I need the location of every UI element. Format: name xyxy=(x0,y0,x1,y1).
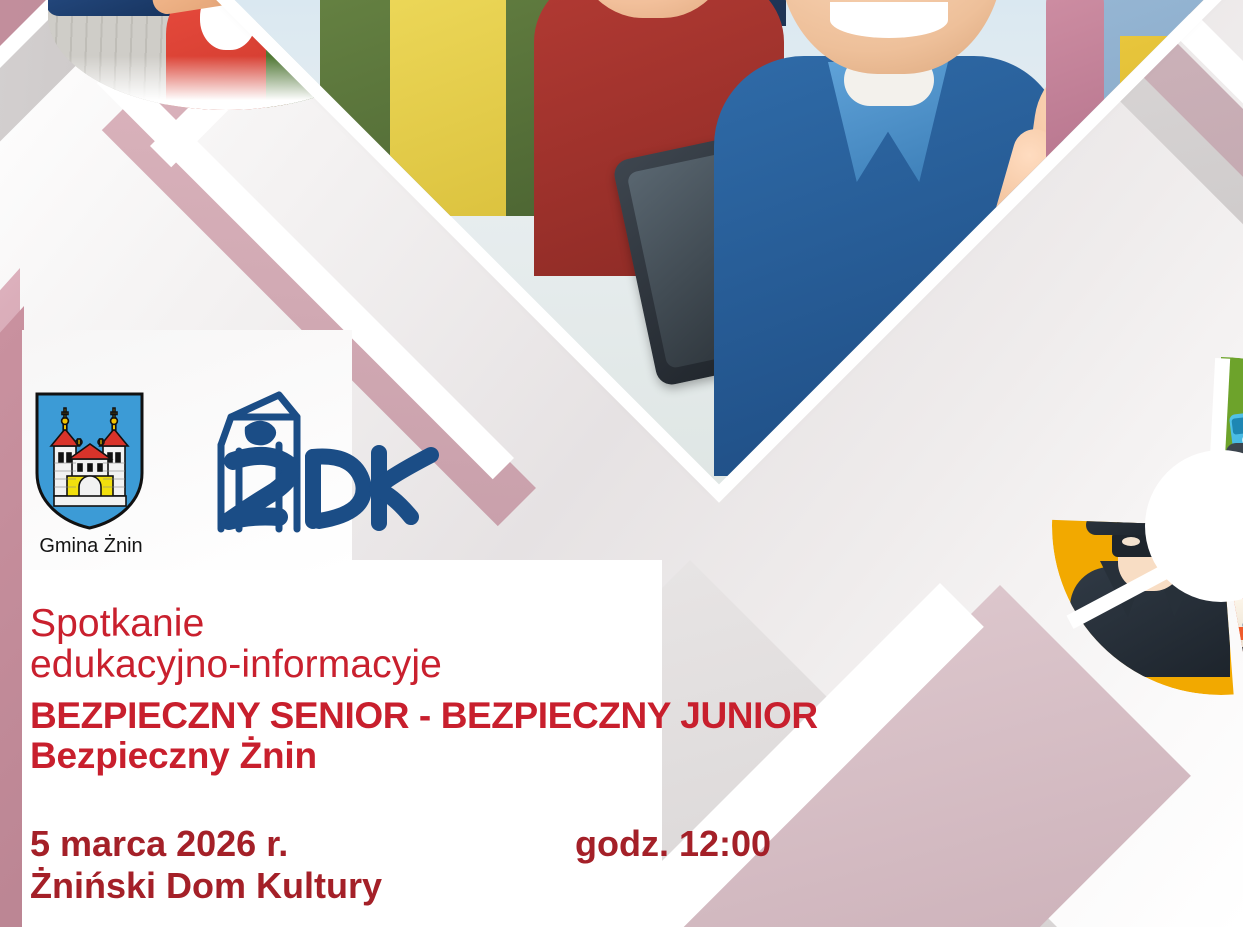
zdk-logo xyxy=(203,387,443,542)
crest-label: Gmina Żnin xyxy=(26,535,156,558)
subtitle-line-1: Spotkanie xyxy=(30,604,990,645)
poster-root: Gmina Żnin xyxy=(0,0,1243,927)
zdk-svg xyxy=(203,387,443,542)
photo-pink-backpack xyxy=(1046,0,1104,206)
headline-block: Spotkanie edukacyjno-informacyje BEZPIEC… xyxy=(30,604,990,777)
event-venue: Żniński Dom Kultury xyxy=(30,865,1030,907)
subtitle-line-2: edukacyjno-informacyje xyxy=(30,645,990,686)
bg-left-edge-stripe-2 xyxy=(0,306,24,927)
event-date: 5 marca 2026 r. xyxy=(30,823,575,865)
title-line-2: Bezpieczny Żnin xyxy=(30,735,990,776)
event-details-block: 5 marca 2026 r. godz. 12:00 Żniński Dom … xyxy=(30,823,1030,908)
bg-left-edge-stripe xyxy=(0,268,20,927)
event-time: godz. 12:00 xyxy=(575,823,771,865)
safety-donut xyxy=(1052,357,1243,695)
title-line-1: BEZPIECZNY SENIOR - BEZPIECZNY JUNIOR xyxy=(30,696,990,735)
gmina-znin-crest-logo xyxy=(34,391,145,531)
crest-svg xyxy=(34,391,145,531)
